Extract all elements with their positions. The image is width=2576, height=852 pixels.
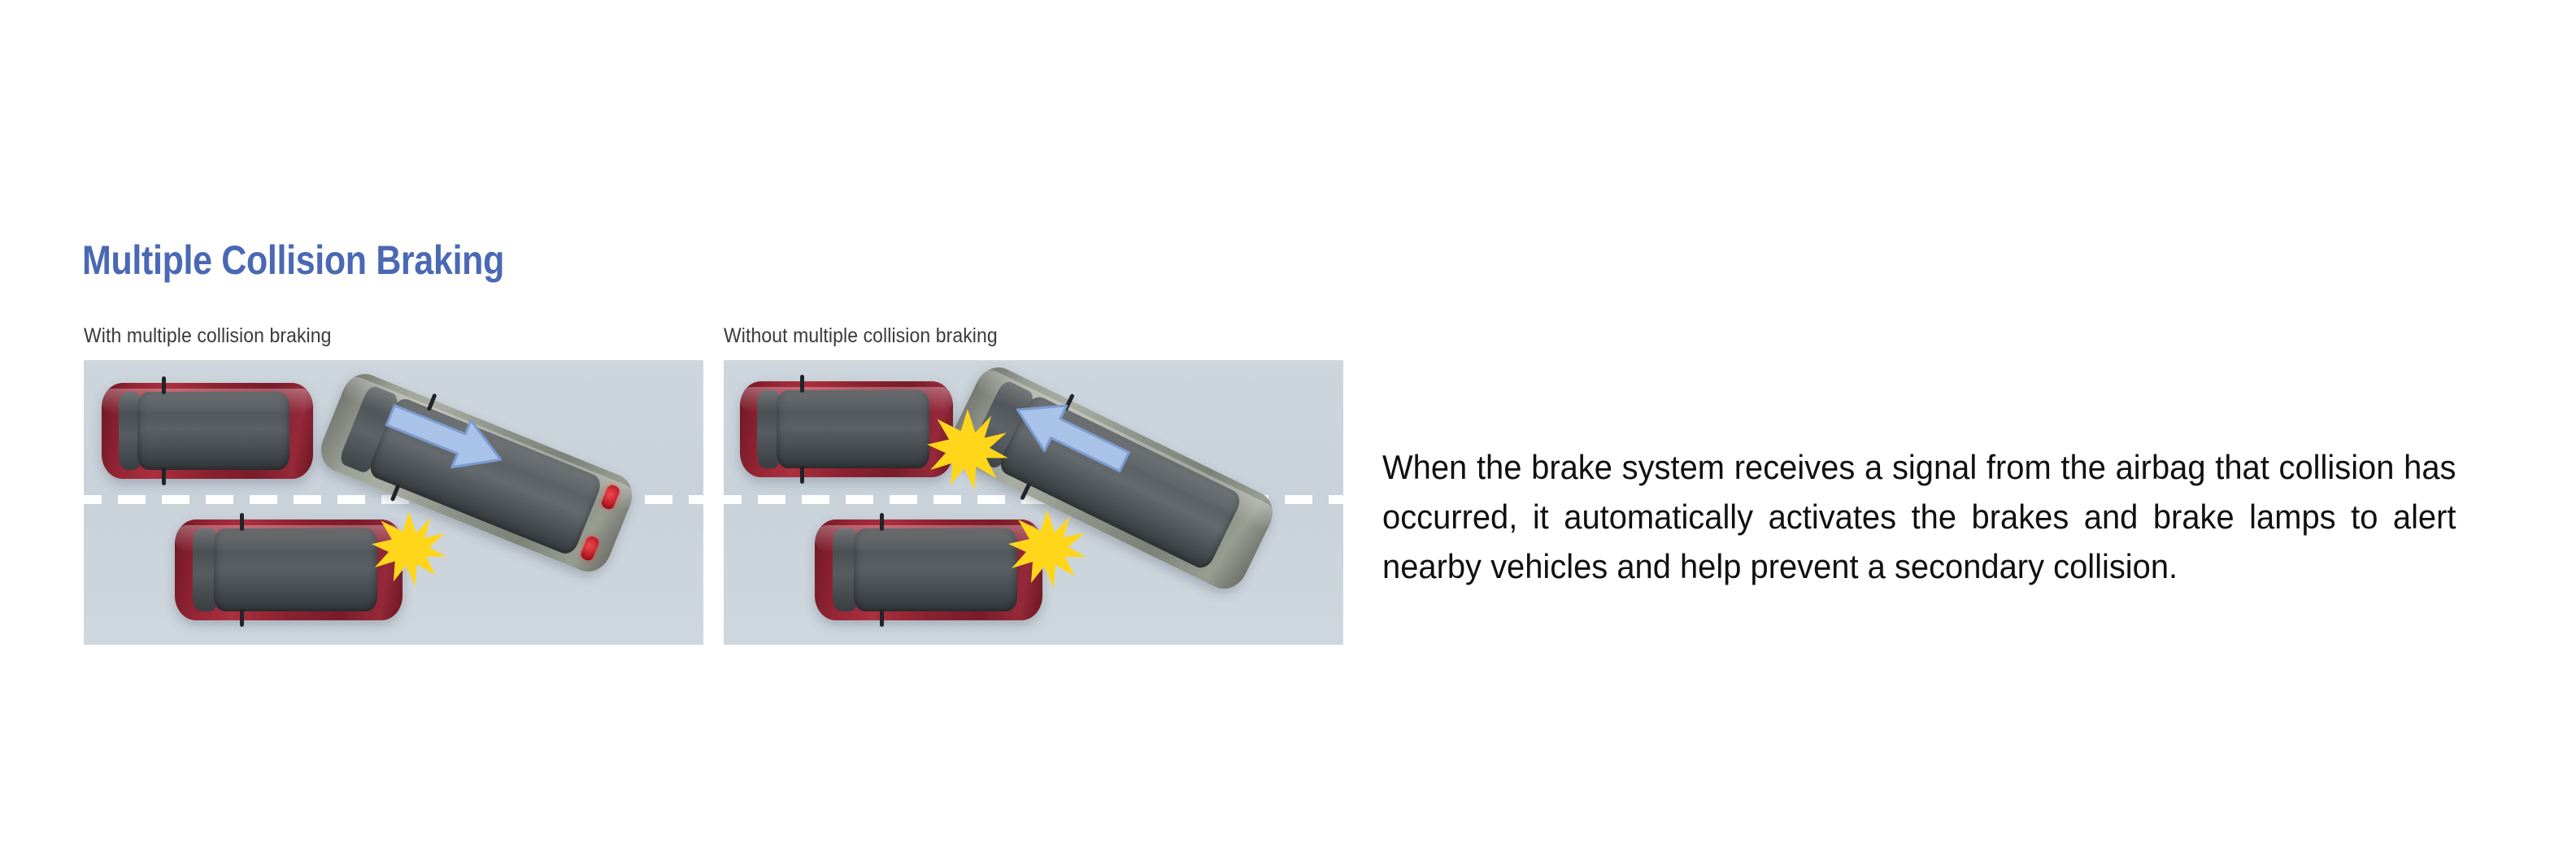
figure-with-multiple-collision-braking: With multiple collision braking — [84, 324, 703, 649]
red-car-upper-lane — [102, 383, 313, 479]
figure-without-multiple-collision-braking: Without multiple collision braking — [724, 324, 1343, 649]
car-mirror-icon — [880, 513, 884, 531]
figure-group: With multiple collision braking — [84, 324, 1344, 649]
car-mirror-icon — [162, 467, 166, 485]
car-mirror-icon — [240, 609, 244, 627]
impact-burst-icon-primary — [925, 407, 1010, 492]
car-roof-glass — [777, 390, 930, 469]
red-car-upper-lane — [740, 381, 953, 477]
car-mirror-icon — [880, 609, 884, 627]
car-body — [175, 519, 402, 620]
red-car-lower-lane — [175, 519, 402, 620]
car-body — [102, 383, 313, 479]
figure-caption-without: Without multiple collision braking — [724, 324, 998, 356]
car-mirror-icon — [240, 513, 244, 531]
impact-burst-icon-secondary — [1007, 508, 1088, 589]
figure-caption-with: With multiple collision braking — [84, 324, 332, 356]
car-mirror-icon — [162, 376, 166, 394]
illustration-with-braking — [84, 360, 703, 645]
car-roof-glass — [214, 528, 378, 611]
car-mirror-icon — [800, 466, 804, 484]
car-body — [740, 381, 953, 477]
car-roof-glass — [854, 528, 1018, 611]
car-roof-glass — [137, 392, 289, 471]
description-paragraph: When the brake system receives a signal … — [1382, 442, 2456, 591]
page-root: Multiple Collision Braking With multiple… — [0, 0, 2576, 852]
car-mirror-icon — [800, 375, 804, 393]
impact-burst-icon — [370, 510, 448, 588]
illustration-without-braking — [724, 360, 1343, 645]
page-title: Multiple Collision Braking — [82, 237, 504, 283]
